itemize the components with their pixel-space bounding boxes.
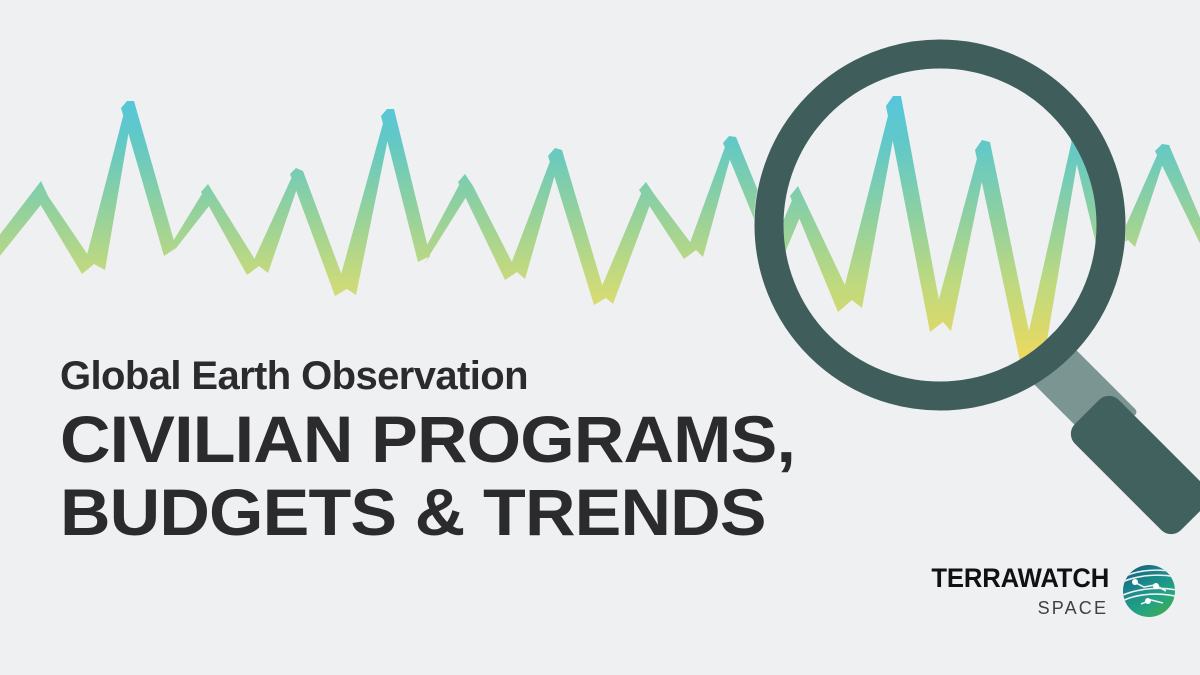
- brand-name: TERRAWATCH: [931, 565, 1109, 592]
- brand-subname: SPACE: [1038, 599, 1109, 617]
- globe-network-icon: [1121, 563, 1177, 619]
- page-title: CIVILIAN PROGRAMS, BUDGETS & TRENDS: [60, 407, 890, 545]
- banner-canvas: Global Earth Observation CIVILIAN PROGRA…: [0, 0, 1200, 675]
- brand-wordmark: TERRAWATCH SPACE: [922, 565, 1109, 617]
- headline-line-1: CIVILIAN PROGRAMS,: [60, 407, 940, 472]
- brand-logo[interactable]: TERRAWATCH SPACE: [922, 552, 1152, 630]
- title-block: Global Earth Observation CIVILIAN PROGRA…: [60, 355, 890, 545]
- eyebrow-text: Global Earth Observation: [60, 355, 890, 397]
- headline-line-2: BUDGETS & TRENDS: [60, 480, 940, 545]
- zigzag-trendline-icon: [0, 101, 1200, 305]
